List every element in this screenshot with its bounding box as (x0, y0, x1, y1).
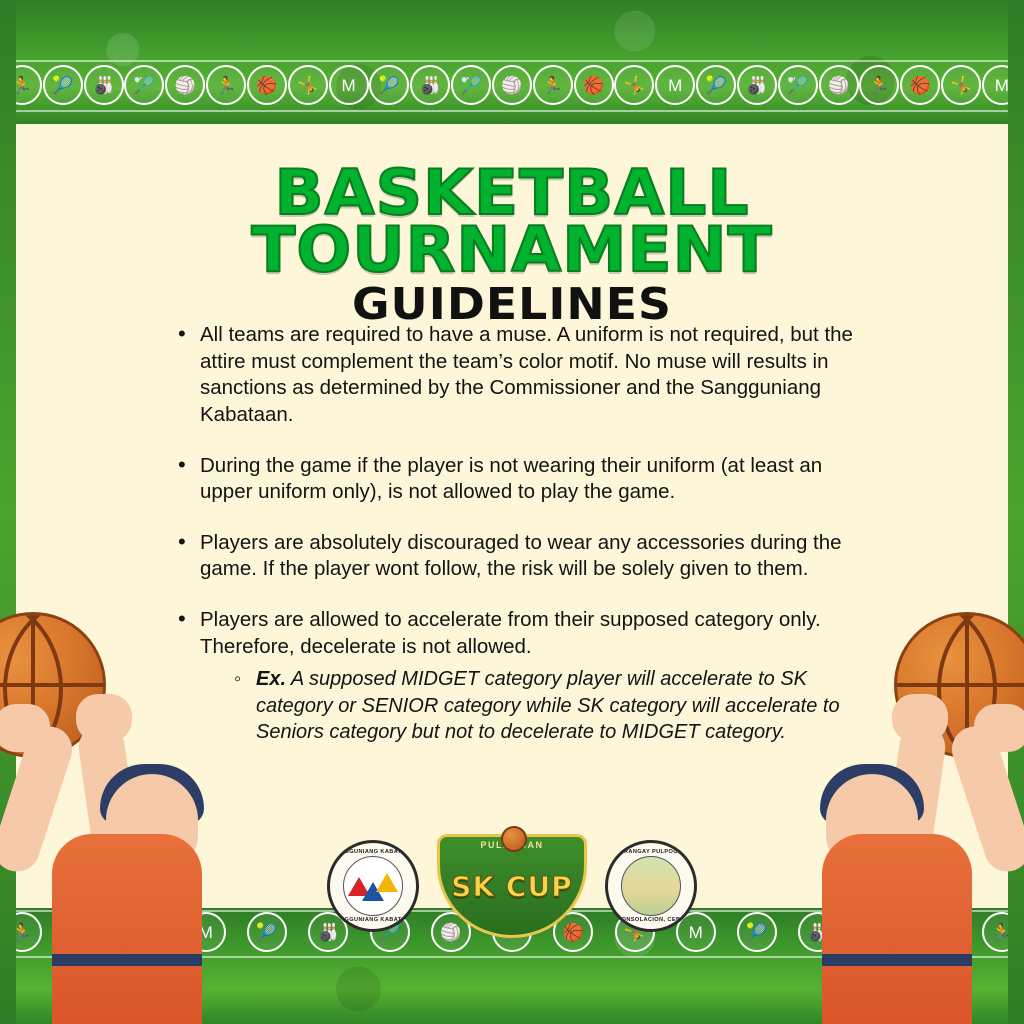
page-title-line-2: TOURNAMENT (0, 221, 1024, 278)
guideline-text: During the game if the player is not wea… (200, 454, 822, 504)
top-strip-divider-upper (0, 60, 1024, 62)
top-strip-divider-lower (0, 110, 1024, 112)
guideline-text: All teams are required to have a muse. A… (200, 323, 853, 426)
left-player-hand-near (76, 694, 132, 742)
guideline-item: Players are allowed to accelerate from t… (176, 607, 876, 745)
shield-label: SK CUP (451, 870, 572, 903)
left-player-hand-far (0, 704, 50, 752)
guideline-item: During the game if the player is not wea… (176, 453, 876, 506)
right-player-jersey-stripe (822, 954, 972, 966)
bowling-pin-icon: 🎳 (737, 65, 777, 105)
top-sport-icon-strip: 🏃🎾🎳🏸🏐🏃🏀🤸M🎾🎳🏸🏐🏃🏀🤸M🎾🎳🏸🏐🏃🏀🤸M (0, 63, 1024, 107)
volleyball-icon: 🏐 (819, 65, 859, 105)
shuttlecock-icon: 🏸 (778, 65, 818, 105)
barangay-seal-emblem (621, 856, 681, 916)
gymnast-icon: 🤸 (288, 65, 328, 105)
tennis-racket-icon: 🎾 (696, 65, 736, 105)
sk-seal-top-text: SANGGUNIANG KABATAAN (330, 849, 416, 855)
bowling-pin-icon: 🎳 (84, 65, 124, 105)
bowling-pin-icon: 🎳 (410, 65, 450, 105)
shuttlecock-icon: 🏸 (451, 65, 491, 105)
volleyball-icon: 🏐 (492, 65, 532, 105)
basketball-icon: 🏀 (574, 65, 614, 105)
guideline-item: All teams are required to have a muse. A… (176, 322, 876, 429)
barangay-pulpogan-seal: BARANGAY PULPOGAN CONSOLACION, CEBU (605, 840, 697, 932)
shield-basketball-icon (501, 826, 527, 852)
tennis-racket-icon: 🎾 (43, 65, 83, 105)
sk-seal-emblem (343, 856, 403, 916)
sk-seal-bottom-text: SANGGUNIANG KABATAAN (330, 917, 416, 923)
right-player-hand-far (974, 704, 1024, 752)
left-player-jersey-stripe (52, 954, 202, 966)
runner-icon: 🏃 (859, 65, 899, 105)
basketball-icon: 🏀 (247, 65, 287, 105)
title-block: BASKETBALL TOURNAMENT GUIDELINES (16, 164, 1008, 328)
sk-national-seal: SANGGUNIANG KABATAAN SANGGUNIANG KABATAA… (327, 840, 419, 932)
runner-icon: 🏃 (206, 65, 246, 105)
barangay-seal-top-text: BARANGAY PULPOGAN (608, 849, 694, 855)
tennis-racket-icon: 🎾 (369, 65, 409, 105)
sk-monogram-icon: M (655, 65, 695, 105)
sk-cup-shield-logo: PULPOGAN SK CUP (437, 834, 587, 938)
volleyball-icon: 🏐 (165, 65, 205, 105)
guideline-example-label: Ex. (256, 668, 286, 690)
gymnast-icon: 🤸 (614, 65, 654, 105)
guideline-text: Players are allowed to accelerate from t… (200, 608, 821, 658)
right-player-hand-near (892, 694, 948, 742)
basketball-icon: 🏀 (900, 65, 940, 105)
logo-row: SANGGUNIANG KABATAAN SANGGUNIANG KABATAA… (0, 834, 1024, 938)
guideline-item: Players are absolutely discouraged to we… (176, 530, 876, 583)
runner-icon: 🏃 (533, 65, 573, 105)
guideline-text: Players are absolutely discouraged to we… (200, 531, 842, 581)
barangay-seal-bottom-text: CONSOLACION, CEBU (608, 917, 694, 923)
sk-monogram-icon: M (329, 65, 369, 105)
guideline-example-text: A supposed MIDGET category player will a… (256, 668, 840, 743)
guidelines-list: All teams are required to have a muse. A… (176, 322, 876, 770)
shuttlecock-icon: 🏸 (124, 65, 164, 105)
gymnast-icon: 🤸 (941, 65, 981, 105)
poster-canvas: 🏃🎾🎳🏸🏐🏃🏀🤸M🎾🎳🏸🏐🏃🏀🤸M🎾🎳🏸🏐🏃🏀🤸M 🏃🏀🤸M🎾🎳🏸🏐🏃🏀🤸M🎾🎳… (0, 0, 1024, 1024)
sk-seal-triangle-yellow (376, 873, 398, 892)
